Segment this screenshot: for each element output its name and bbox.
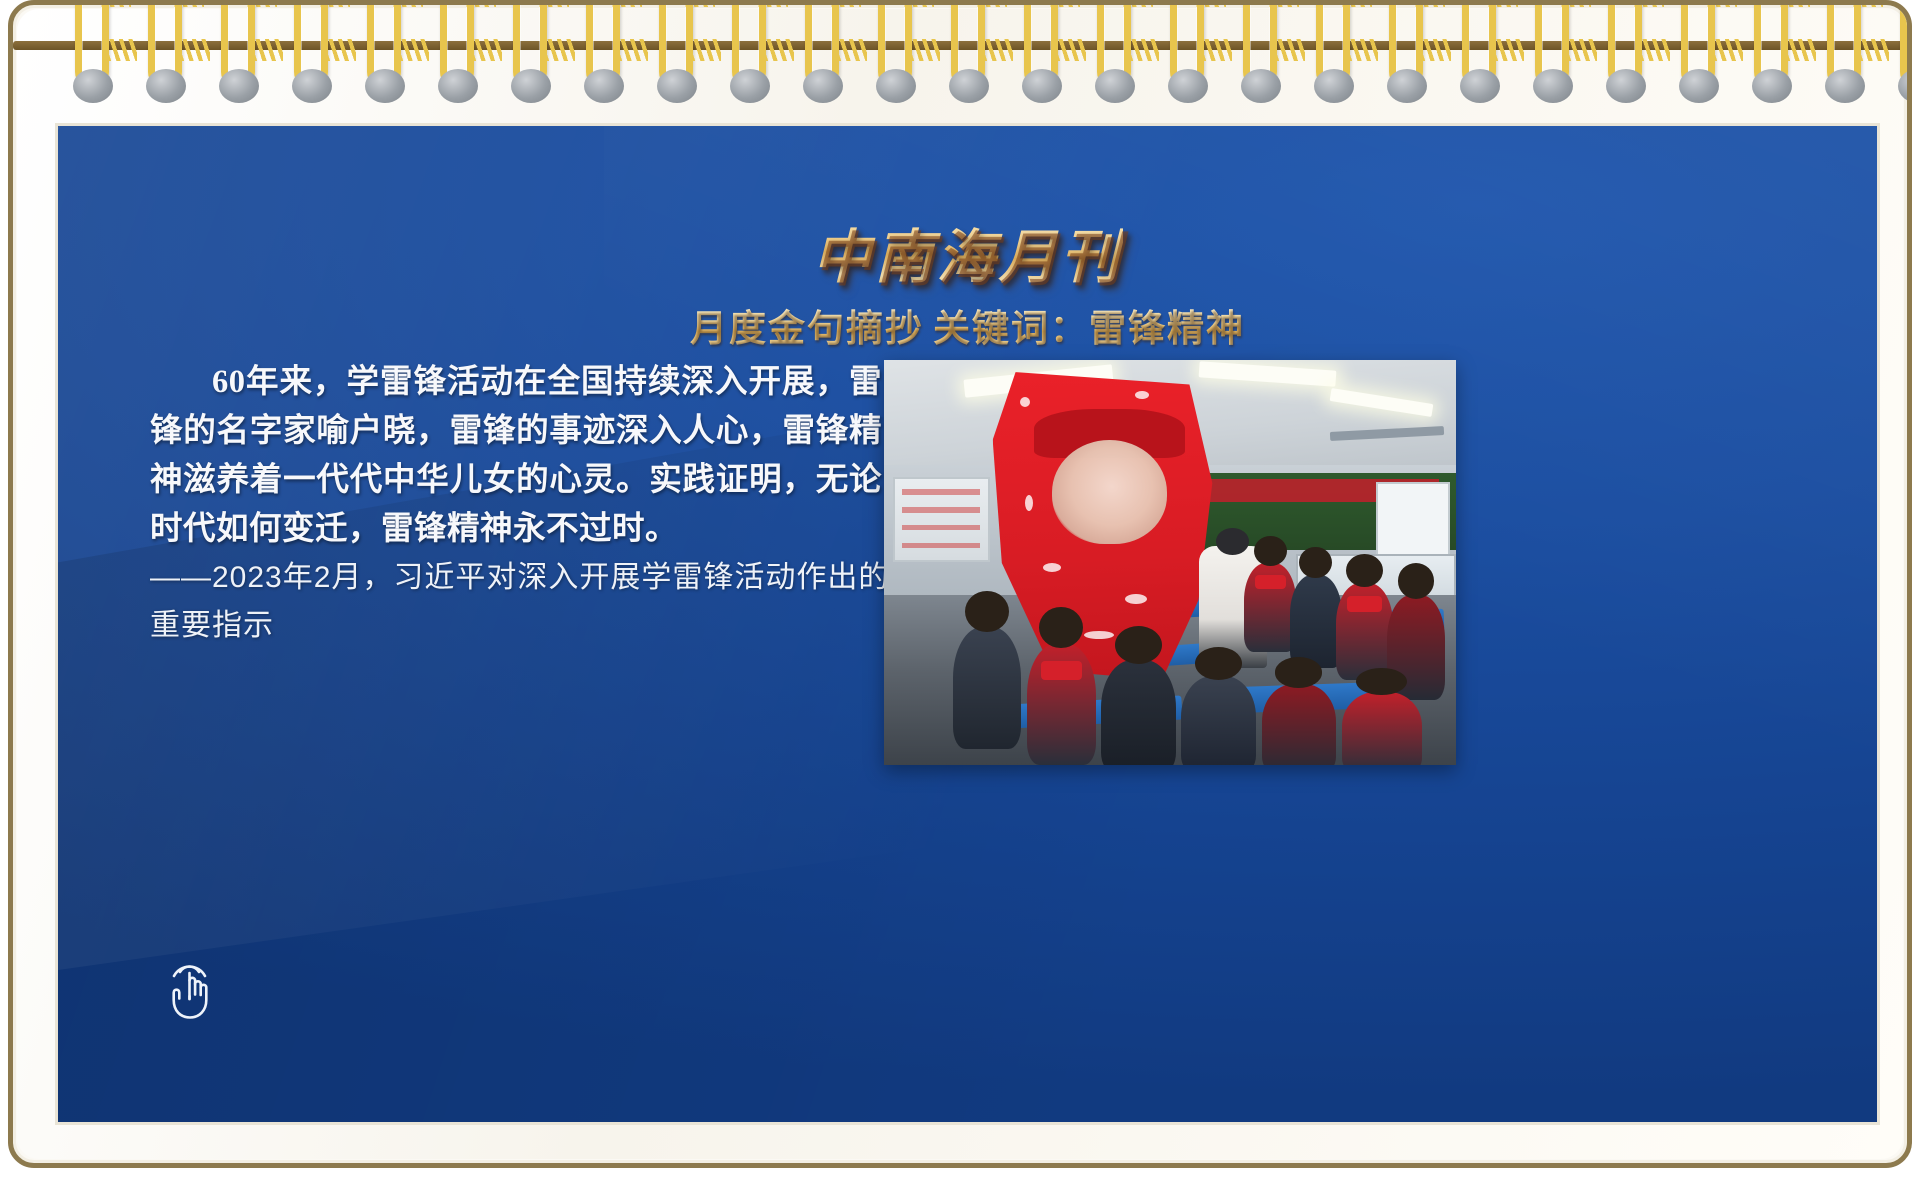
spiral-punch-hole xyxy=(1752,69,1792,103)
slide-background: 中南海月刊 月度金句摘抄 关键词：雷锋精神 60年来，学雷锋活动在全国持续深入开… xyxy=(58,126,1877,1122)
spiral-coil xyxy=(353,0,417,115)
spiral-punch-hole xyxy=(1095,69,1135,103)
spiral-coil xyxy=(937,0,1001,115)
spiral-coil xyxy=(572,0,636,115)
notebook-page: 中南海月刊 月度金句摘抄 关键词：雷锋精神 60年来，学雷锋活动在全国持续深入开… xyxy=(8,0,1912,1168)
photo-student xyxy=(953,627,1022,749)
photo-poster xyxy=(893,477,990,562)
spiral-coil xyxy=(1740,0,1804,115)
spiral-coil xyxy=(1375,0,1439,115)
spiral-coil xyxy=(1886,0,1912,115)
spiral-punch-hole xyxy=(730,69,770,103)
spiral-coil xyxy=(718,0,782,115)
spiral-punch-hole xyxy=(876,69,916,103)
spiral-coil-wire xyxy=(910,39,940,61)
spiral-coil-wire xyxy=(1275,39,1305,61)
spiral-punch-hole xyxy=(1825,69,1865,103)
spiral-punch-hole xyxy=(803,69,843,103)
subtitle-left: 月度金句摘抄 xyxy=(690,298,924,352)
spiral-punch-hole xyxy=(584,69,624,103)
spiral-coil xyxy=(1448,0,1512,115)
spiral-coil-wire xyxy=(180,39,210,61)
spiral-coil xyxy=(499,0,563,115)
photo-student xyxy=(1290,575,1341,668)
spiral-punch-hole xyxy=(1679,69,1719,103)
spiral-punch-hole xyxy=(1241,69,1281,103)
spiral-coil-wire xyxy=(326,39,356,61)
spiral-coil-wire xyxy=(1786,39,1816,61)
spiral-punch-hole xyxy=(1168,69,1208,103)
spiral-coil xyxy=(1010,0,1074,115)
spiral-coil xyxy=(61,0,125,115)
spiral-coil xyxy=(207,0,271,115)
spiral-coil-wire xyxy=(1202,39,1232,61)
spiral-coil xyxy=(426,0,490,115)
spiral-punch-hole xyxy=(511,69,551,103)
spiral-coil-wire xyxy=(1056,39,1086,61)
spiral-punch-hole xyxy=(146,69,186,103)
spiral-punch-hole xyxy=(1606,69,1646,103)
slide-frame: 中南海月刊 月度金句摘抄 关键词：雷锋精神 60年来，学雷锋活动在全国持续深入开… xyxy=(55,123,1880,1125)
spiral-coil-wire xyxy=(618,39,648,61)
spiral-coil-wire xyxy=(764,39,794,61)
spiral-coil-wire xyxy=(691,39,721,61)
subtitle-container: 月度金句摘抄 关键词：雷锋精神 xyxy=(58,298,1877,352)
spiral-coil-wire xyxy=(107,39,137,61)
photo-student xyxy=(1244,563,1295,652)
spiral-coil-wire xyxy=(1494,39,1524,61)
spiral-punch-hole xyxy=(292,69,332,103)
spiral-punch-hole xyxy=(365,69,405,103)
spiral-coil-wire xyxy=(837,39,867,61)
spiral-coil xyxy=(1302,0,1366,115)
spiral-coil xyxy=(1521,0,1585,115)
spiral-coil-wire xyxy=(1567,39,1597,61)
subtitle-keyword: 关键词：雷锋精神 xyxy=(933,298,1245,352)
spiral-punch-hole xyxy=(1460,69,1500,103)
quote-attribution: ——2023年2月，习近平对深入开展学雷锋活动作出的重要指示 xyxy=(150,554,890,650)
spiral-coil-wire xyxy=(399,39,429,61)
spiral-coil-wire xyxy=(983,39,1013,61)
spiral-coil-wire xyxy=(1640,39,1670,61)
spiral-coil xyxy=(1813,0,1877,115)
spiral-coil xyxy=(791,0,855,115)
spiral-punch-hole xyxy=(949,69,989,103)
spiral-coil xyxy=(1594,0,1658,115)
spiral-punch-hole xyxy=(1022,69,1062,103)
photo-cutout-face xyxy=(1052,440,1166,545)
spiral-punch-hole xyxy=(657,69,697,103)
spiral-punch-hole xyxy=(1533,69,1573,103)
spiral-coil-wire xyxy=(1348,39,1378,61)
slide-canvas: 中南海月刊 月度金句摘抄 关键词：雷锋精神 60年来，学雷锋活动在全国持续深入开… xyxy=(0,0,1920,1180)
quote-text: 60年来，学雷锋活动在全国持续深入开展，雷锋的名字家喻户晓，雷锋的事迹深入人心，… xyxy=(150,358,882,554)
photo-student xyxy=(1101,660,1175,765)
spiral-coil xyxy=(645,0,709,115)
tap-hand-icon[interactable] xyxy=(158,950,224,1024)
title-container: 中南海月刊 xyxy=(58,210,1877,294)
photo-student xyxy=(1262,684,1336,765)
spiral-coil xyxy=(1083,0,1147,115)
spiral-coil-wire xyxy=(1421,39,1451,61)
spiral-binding xyxy=(13,5,1912,113)
spiral-punch-hole xyxy=(73,69,113,103)
photo-student xyxy=(1181,676,1255,765)
photo-student xyxy=(1336,583,1393,680)
spiral-coil-wire xyxy=(1129,39,1159,61)
spiral-punch-hole xyxy=(1387,69,1427,103)
spiral-punch-hole xyxy=(438,69,478,103)
spiral-coil-wire xyxy=(545,39,575,61)
spiral-coil-wire xyxy=(253,39,283,61)
photo-student xyxy=(1027,644,1096,766)
spiral-coil xyxy=(280,0,344,115)
spiral-coil-wire xyxy=(472,39,502,61)
spiral-coil-wire xyxy=(1713,39,1743,61)
spiral-punch-hole xyxy=(219,69,259,103)
photo-student xyxy=(1342,692,1422,765)
spiral-coil xyxy=(134,0,198,115)
spiral-coil xyxy=(1156,0,1220,115)
spiral-coil xyxy=(1667,0,1731,115)
spiral-coil-wire xyxy=(1859,39,1889,61)
spiral-punch-hole xyxy=(1314,69,1354,103)
spiral-coil xyxy=(1229,0,1293,115)
spiral-coil xyxy=(864,0,928,115)
page-title: 中南海月刊 xyxy=(812,210,1122,294)
classroom-photo xyxy=(884,360,1456,765)
